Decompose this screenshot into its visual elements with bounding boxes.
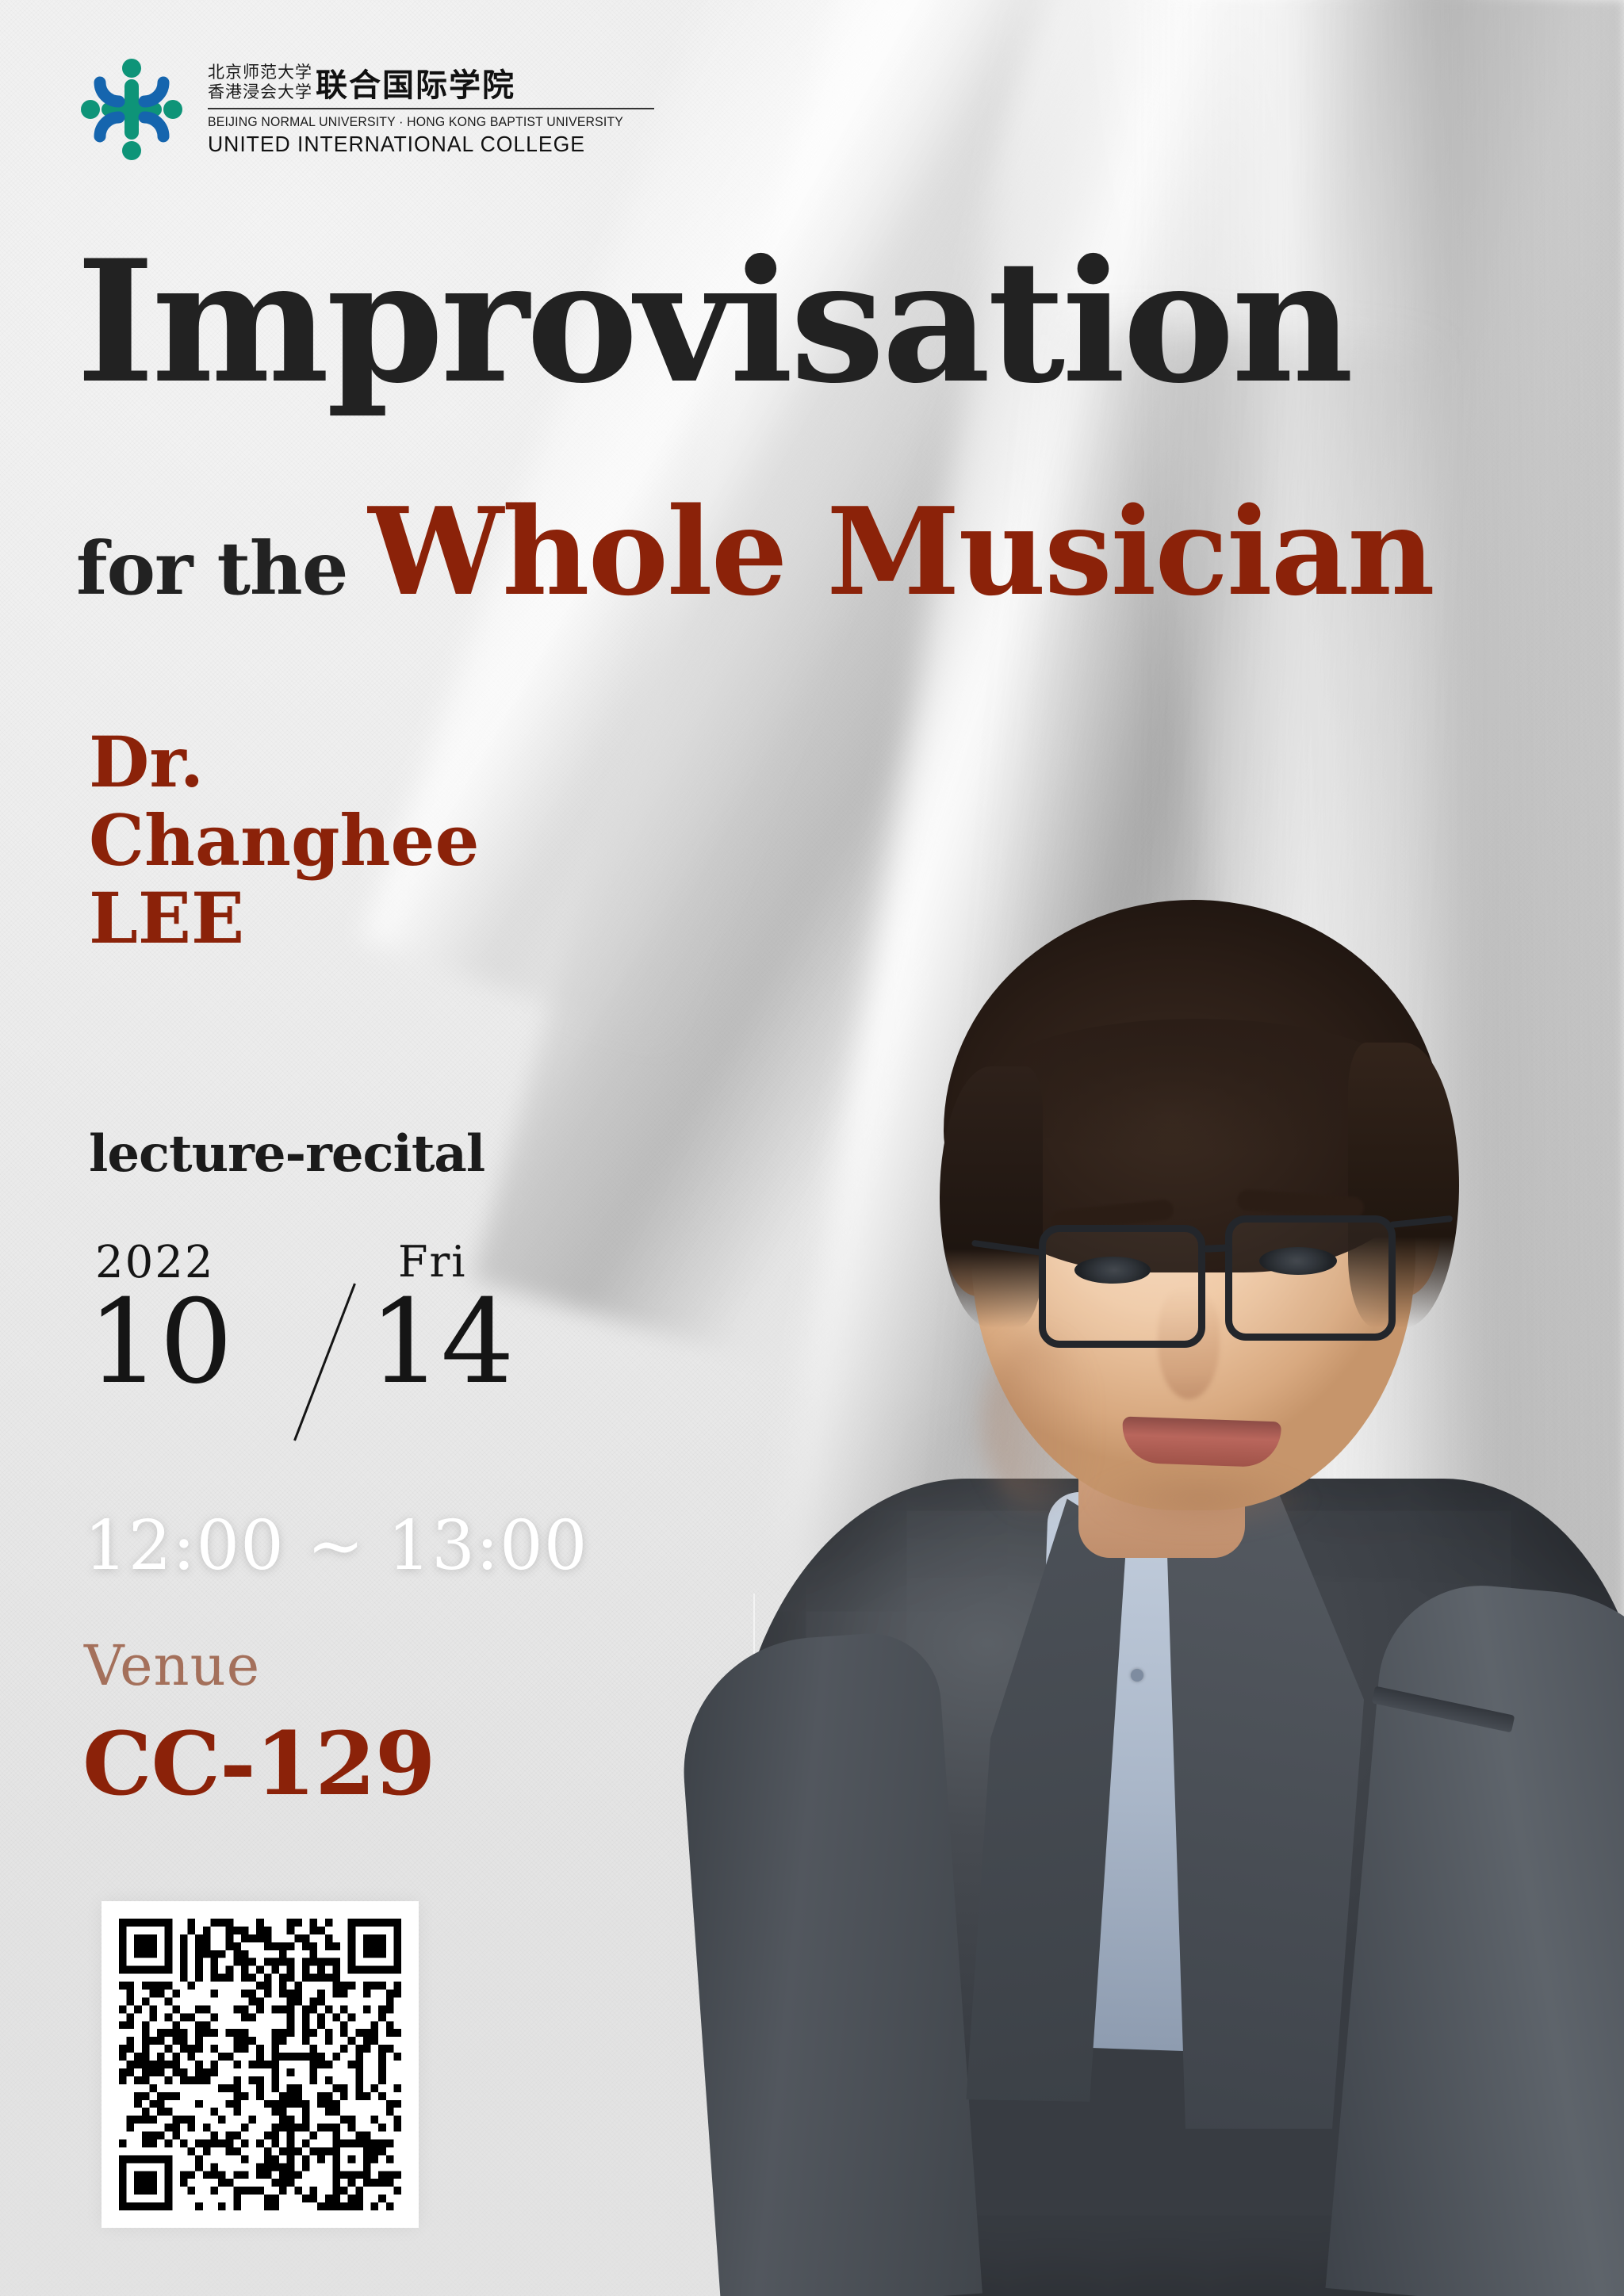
speaker-name-line-1: Dr. — [89, 723, 480, 802]
portrait-hair-fringe — [983, 1019, 1411, 1154]
logo-chinese-college: 联合国际学院 — [316, 69, 515, 102]
institution-logo: 北京师范大学 香港浸会大学 联合国际学院 BEIJING NORMAL UNIV… — [76, 54, 654, 165]
portrait-left-sleeve — [675, 1629, 982, 2296]
venue-room: CC-129 — [82, 1712, 435, 1815]
portrait-mouth — [1121, 1417, 1281, 1468]
logo-chinese-line-2: 香港浸会大学 — [208, 82, 312, 102]
poster-canvas: 北京师范大学 香港浸会大学 联合国际学院 BEIJING NORMAL UNIV… — [0, 0, 1624, 2296]
speaker-name-line-2: Changhee — [89, 802, 480, 880]
glasses-bridge-icon — [1204, 1244, 1231, 1253]
speaker-name-line-3: LEE — [89, 879, 480, 958]
qr-code-canvas[interactable] — [119, 1919, 401, 2210]
event-type-label: lecture-recital — [89, 1124, 485, 1184]
portrait-cheek-shadow — [983, 1336, 1094, 1510]
qr-code[interactable] — [101, 1901, 419, 2228]
logo-chinese-universities: 北京师范大学 香港浸会大学 — [208, 63, 312, 102]
poster-subtitle-prefix: for the — [76, 526, 347, 611]
poster-subtitle: for theWhole Musician — [76, 492, 1434, 612]
poster-title: Improvisation — [76, 238, 1350, 406]
venue-label: Venue — [84, 1633, 260, 1698]
logo-chinese-line-1: 北京师范大学 — [208, 63, 312, 82]
portrait-shirt-button — [1131, 1669, 1143, 1682]
event-date: 2022 10 Fri 14 — [87, 1237, 579, 1475]
date-separator-icon — [293, 1284, 356, 1441]
glasses-lens-left-icon — [1039, 1225, 1205, 1348]
logo-chinese-block: 北京师范大学 香港浸会大学 联合国际学院 — [208, 63, 654, 102]
date-day: 14 — [369, 1284, 513, 1400]
portrait-hair-side-left — [940, 1066, 1043, 1328]
speaker-name: Dr. Changhee LEE — [89, 723, 480, 958]
logo-english-college: UNITED INTERNATIONAL COLLEGE — [208, 132, 632, 157]
logo-english-universities: BEIJING NORMAL UNIVERSITY · HONG KONG BA… — [208, 114, 623, 130]
event-time: 12:00 ~ 13:00 — [84, 1506, 588, 1586]
glasses-lens-right-icon — [1225, 1215, 1396, 1341]
logo-divider — [208, 108, 654, 109]
poster-subtitle-accent: Whole Musician — [368, 480, 1433, 622]
uic-logo-mark-icon — [76, 54, 187, 165]
logo-wordmark: 北京师范大学 香港浸会大学 联合国际学院 BEIJING NORMAL UNIV… — [208, 63, 654, 157]
portrait-chin-shadow — [1086, 1471, 1316, 1542]
date-month: 10 — [87, 1284, 232, 1400]
speaker-portrait — [611, 781, 1624, 2296]
